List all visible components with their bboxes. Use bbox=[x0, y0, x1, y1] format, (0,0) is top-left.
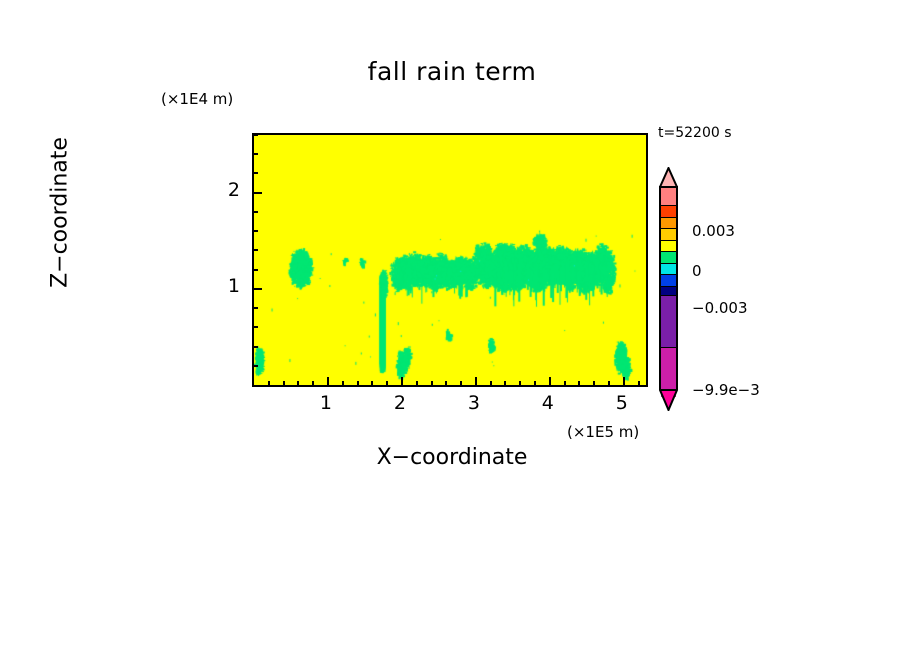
x-tick bbox=[401, 377, 403, 386]
x-tick-label: 1 bbox=[306, 392, 346, 414]
colorbar-band bbox=[661, 240, 676, 251]
x-tick bbox=[578, 381, 580, 386]
x-tick bbox=[504, 381, 506, 386]
y-tick bbox=[253, 288, 262, 290]
y-tick bbox=[253, 230, 258, 232]
colorbar-band bbox=[661, 217, 676, 228]
colorbar-bottom-arrow bbox=[659, 389, 678, 411]
x-tick bbox=[623, 377, 625, 386]
y-tick bbox=[253, 307, 258, 309]
x-tick bbox=[283, 381, 285, 386]
timestamp-annotation: t=52200 s bbox=[658, 125, 732, 141]
x-tick bbox=[268, 381, 270, 386]
colorbar-band bbox=[661, 286, 676, 295]
figure-canvas: fall rain term (×1E4 m) (×1E5 m) t=52200… bbox=[0, 0, 904, 654]
y-tick-label: 1 bbox=[212, 275, 240, 297]
colorbar-label: 0.003 bbox=[692, 222, 735, 240]
x-tick bbox=[431, 381, 433, 386]
x-tick-label: 4 bbox=[528, 392, 568, 414]
y-tick bbox=[253, 192, 262, 194]
y-axis-label: Z−coordinate bbox=[48, 113, 73, 313]
heatmap-data-layer bbox=[254, 135, 646, 385]
colorbar-band bbox=[661, 263, 676, 274]
y-tick-label: 2 bbox=[212, 179, 240, 201]
x-tick bbox=[357, 381, 359, 386]
x-tick-label: 2 bbox=[380, 392, 420, 414]
x-tick bbox=[534, 381, 536, 386]
y-tick bbox=[253, 172, 258, 174]
x-tick bbox=[593, 381, 595, 386]
y-tick bbox=[253, 326, 258, 328]
x-tick bbox=[386, 381, 388, 386]
x-tick bbox=[297, 381, 299, 386]
colorbar-band bbox=[661, 251, 676, 262]
colorbar-label: −0.003 bbox=[692, 299, 748, 317]
x-tick bbox=[519, 381, 521, 386]
y-tick bbox=[253, 249, 258, 251]
y-tick bbox=[253, 211, 258, 213]
x-tick bbox=[312, 381, 314, 386]
x-tick bbox=[445, 381, 447, 386]
x-tick bbox=[608, 381, 610, 386]
colorbar-label: −9.9e−3 bbox=[692, 381, 760, 399]
x-tick bbox=[564, 381, 566, 386]
colorbar-band bbox=[661, 295, 676, 347]
colorbar-top-arrow-outline bbox=[659, 167, 678, 188]
y-tick bbox=[253, 134, 258, 136]
x-tick bbox=[475, 377, 477, 386]
colorbar-band bbox=[661, 188, 676, 205]
y-tick bbox=[253, 269, 258, 271]
x-tick-label: 3 bbox=[454, 392, 494, 414]
y-tick bbox=[253, 346, 258, 348]
colorbar-band bbox=[661, 274, 676, 285]
x-tick-label: 5 bbox=[602, 392, 642, 414]
x-tick bbox=[460, 381, 462, 386]
x-tick bbox=[416, 381, 418, 386]
x-tick bbox=[327, 377, 329, 386]
x-tick bbox=[371, 381, 373, 386]
x-tick bbox=[638, 381, 640, 386]
colorbar bbox=[659, 186, 678, 389]
x-axis-units-label: (×1E5 m) bbox=[567, 423, 639, 441]
y-tick bbox=[253, 365, 258, 367]
x-tick bbox=[549, 377, 551, 386]
page-title: fall rain term bbox=[0, 57, 904, 86]
colorbar-label: 0 bbox=[692, 262, 702, 280]
colorbar-band bbox=[661, 228, 676, 239]
x-axis-label: X−coordinate bbox=[0, 445, 904, 470]
plot-area bbox=[252, 133, 648, 387]
x-tick bbox=[342, 381, 344, 386]
y-axis-units-label: (×1E4 m) bbox=[161, 90, 233, 108]
x-tick bbox=[490, 381, 492, 386]
y-tick bbox=[253, 153, 258, 155]
colorbar-band bbox=[661, 205, 676, 216]
